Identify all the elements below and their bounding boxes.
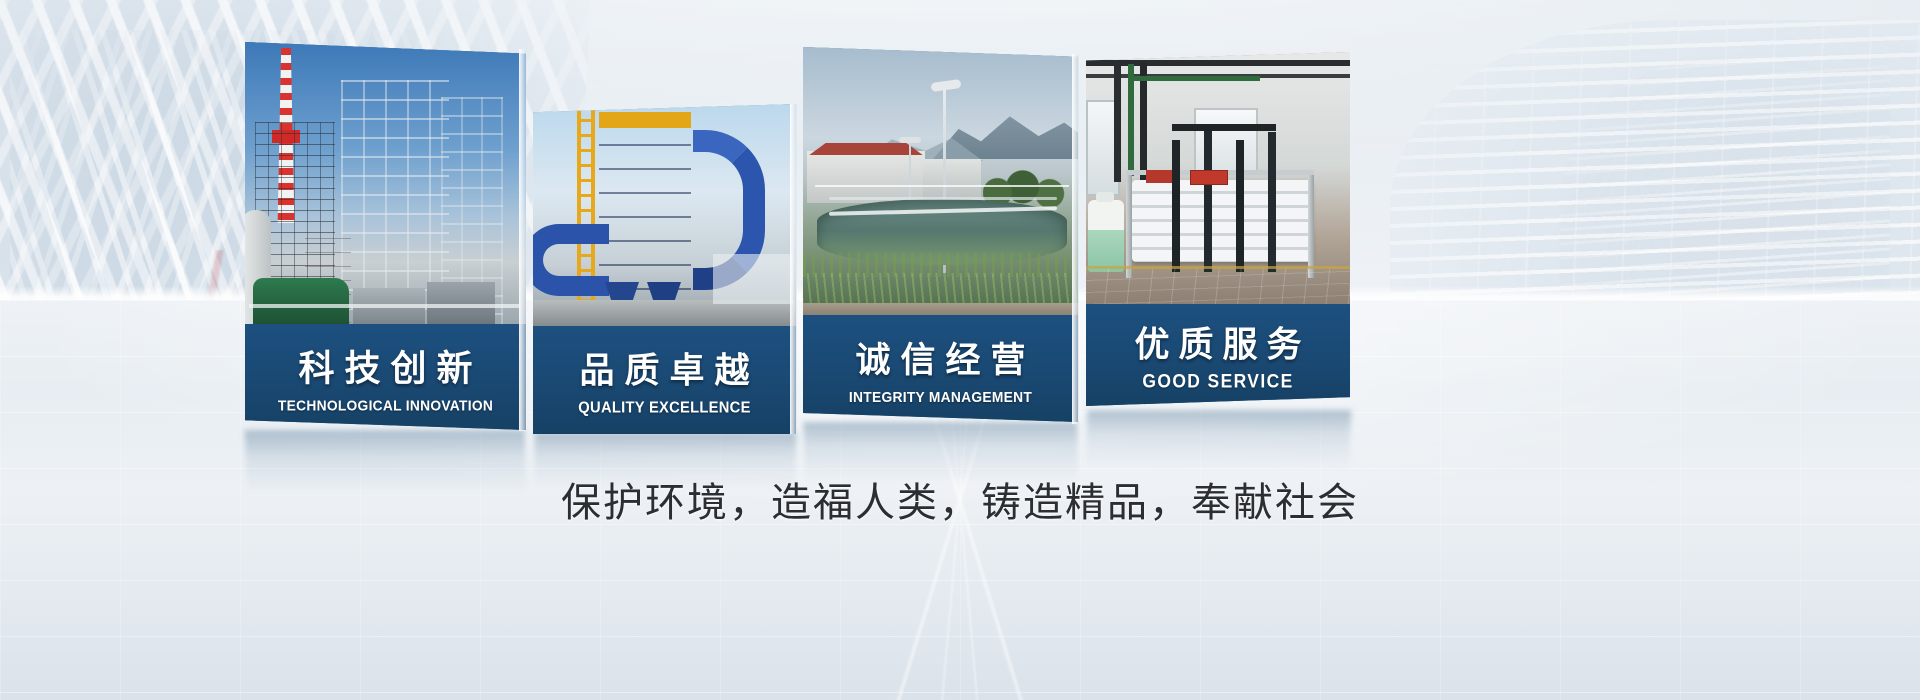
hero-banner: 科技创新 TECHNOLOGICAL INNOVATION [0,0,1920,700]
photo-element-ro-membranes [1132,180,1312,262]
feature-panel-integrity-management[interactable]: 诚信经营 INTEGRITY MANAGEMENT [803,47,1078,422]
photo-element-red-sign [1190,170,1228,185]
panel-title-cn-4: 优质服务 [1086,317,1350,368]
panel-fold-edge-1 [519,49,526,431]
photo-element-overhead-pipes [1086,60,1350,66]
feature-panel-technological-innovation[interactable]: 科技创新 TECHNOLOGICAL INNOVATION [245,42,526,430]
panel-photo-wastewater-plant [803,47,1078,315]
photo-element-green-machinery [253,278,349,324]
panel-photo-water-treatment-skid [1086,52,1350,304]
photo-element-blue-vessel [599,120,691,306]
panel-title-en-1: TECHNOLOGICAL INNOVATION [256,398,515,415]
panel-photo-industrial-stack [245,42,526,324]
panel-title-cn-1: 科技创新 [245,340,526,392]
feature-panel-quality-excellence[interactable]: 品质卓越 QUALITY EXCELLENCE [533,104,796,434]
panel-caption-bar-4: 优质服务 GOOD SERVICE [1086,304,1350,406]
photo-element-dosing-tank [1088,200,1124,272]
panel-title-cn-3: 诚信经营 [803,332,1078,383]
panel-title-en-4: GOOD SERVICE [1097,372,1340,394]
panel-title-cn-2: 品质卓越 [533,343,796,394]
tagline: 保护环境，造福人类，铸造精品，奉献社会 [0,470,1920,528]
panel-caption-bar-1: 科技创新 TECHNOLOGICAL INNOVATION [245,324,526,430]
panel-caption-bar-3: 诚信经营 INTEGRITY MANAGEMENT [803,315,1078,422]
panel-fold-edge-3 [1072,54,1079,424]
panel-caption-bar-2: 品质卓越 QUALITY EXCELLENCE [533,326,796,434]
panel-photo-dust-collector [533,104,796,326]
photo-element-plant-building [807,151,925,203]
feature-panel-good-service[interactable]: 优质服务 GOOD SERVICE [1086,52,1350,406]
panel-title-en-2: QUALITY EXCELLENCE [544,400,786,418]
panel-title-en-3: INTEGRITY MANAGEMENT [814,389,1067,406]
panel-fold-edge-2 [790,104,797,434]
